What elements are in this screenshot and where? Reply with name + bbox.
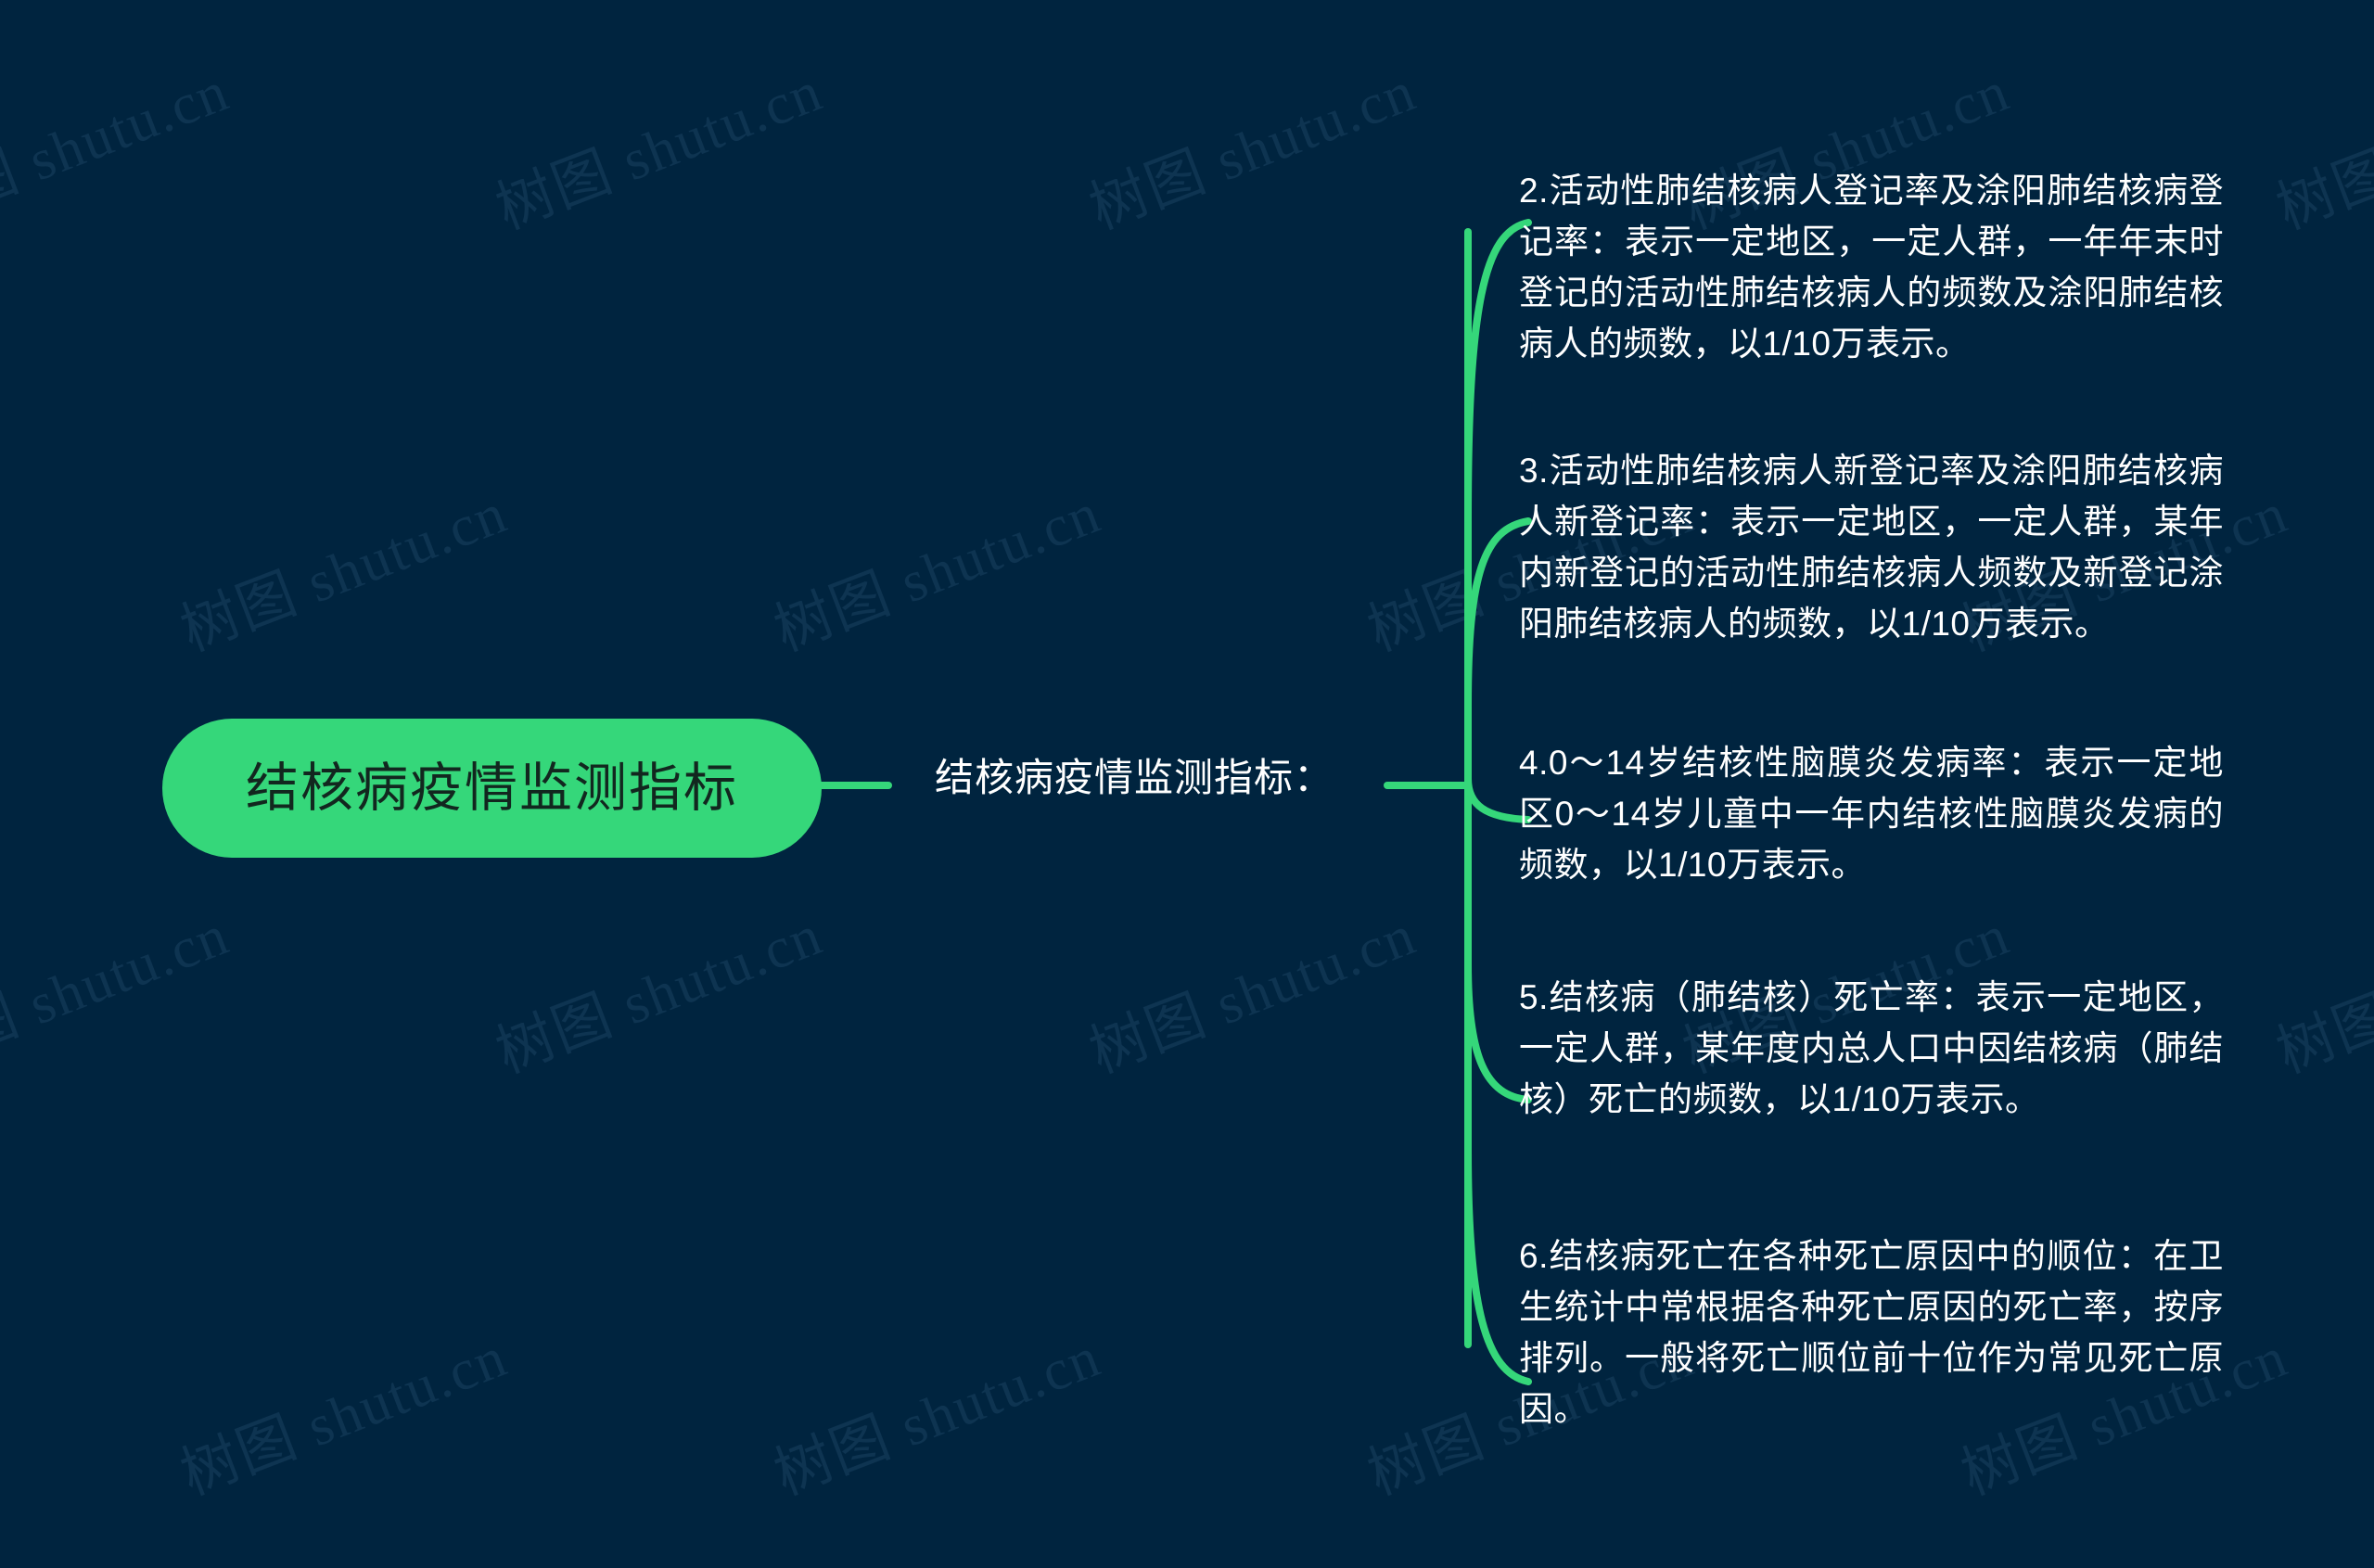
watermark-text: 树图 shutu.cn <box>760 1309 1111 1511</box>
watermark-text: 树图 shutu.cn <box>482 887 833 1089</box>
branch-node-label: 结核病疫情监测指标： <box>935 756 1334 799</box>
leaf-node-4[interactable]: 4.0～14岁结核性脑膜炎发病率：表示一定地区0～14岁儿童中一年内结核性脑膜炎… <box>1519 737 2224 890</box>
leaf-node-3[interactable]: 3.活动性肺结核病人新登记率及涂阳肺结核病人新登记率：表示一定地区，一定人群，某… <box>1519 445 2224 649</box>
root-node[interactable]: 结核病疫情监测指标 <box>162 719 822 858</box>
leaf-node-5[interactable]: 5.结核病（肺结核）死亡率：表示一定地区，一定人群，某年度内总人口中因结核病（肺… <box>1519 972 2224 1125</box>
watermark-text: 树图 shutu.cn <box>167 1309 517 1511</box>
watermark-text: 树图 shutu.cn <box>1076 44 1426 245</box>
watermark-text: 树图 shutu.cn <box>2263 44 2374 245</box>
leaf-node-label: 2.活动性肺结核病人登记率及涂阳肺结核病登记率：表示一定地区，一定人群，一年年末… <box>1519 165 2224 369</box>
leaf-node-label: 4.0～14岁结核性脑膜炎发病率：表示一定地区0～14岁儿童中一年内结核性脑膜炎… <box>1519 737 2224 890</box>
branch-node[interactable]: 结核病疫情监测指标： <box>935 753 1334 804</box>
watermark-text: 树图 shutu.cn <box>2263 887 2374 1089</box>
watermark-text: 树图 shutu.cn <box>0 887 239 1089</box>
watermark-text: 树图 shutu.cn <box>482 44 833 245</box>
leaf-node-6[interactable]: 6.结核病死亡在各种死亡原因中的顺位：在卫生统计中常根据各种死亡原因的死亡率，按… <box>1519 1230 2224 1434</box>
leaf-node-label: 6.结核病死亡在各种死亡原因中的顺位：在卫生统计中常根据各种死亡原因的死亡率，按… <box>1519 1230 2224 1434</box>
root-node-label: 结核病疫情监测指标 <box>246 762 738 815</box>
watermark-text: 树图 shutu.cn <box>167 465 517 667</box>
watermark-text: 树图 shutu.cn <box>0 44 239 245</box>
leaf-node-label: 5.结核病（肺结核）死亡率：表示一定地区，一定人群，某年度内总人口中因结核病（肺… <box>1519 972 2224 1125</box>
watermark-text: 树图 shutu.cn <box>1076 887 1426 1089</box>
watermark-text: 树图 shutu.cn <box>760 465 1111 667</box>
leaf-node-2[interactable]: 2.活动性肺结核病人登记率及涂阳肺结核病登记率：表示一定地区，一定人群，一年年末… <box>1519 165 2224 369</box>
mindmap-canvas: 树图 shutu.cn树图 shutu.cn树图 shutu.cn树图 shut… <box>0 0 2374 1568</box>
leaf-node-label: 3.活动性肺结核病人新登记率及涂阳肺结核病人新登记率：表示一定地区，一定人群，某… <box>1519 445 2224 649</box>
